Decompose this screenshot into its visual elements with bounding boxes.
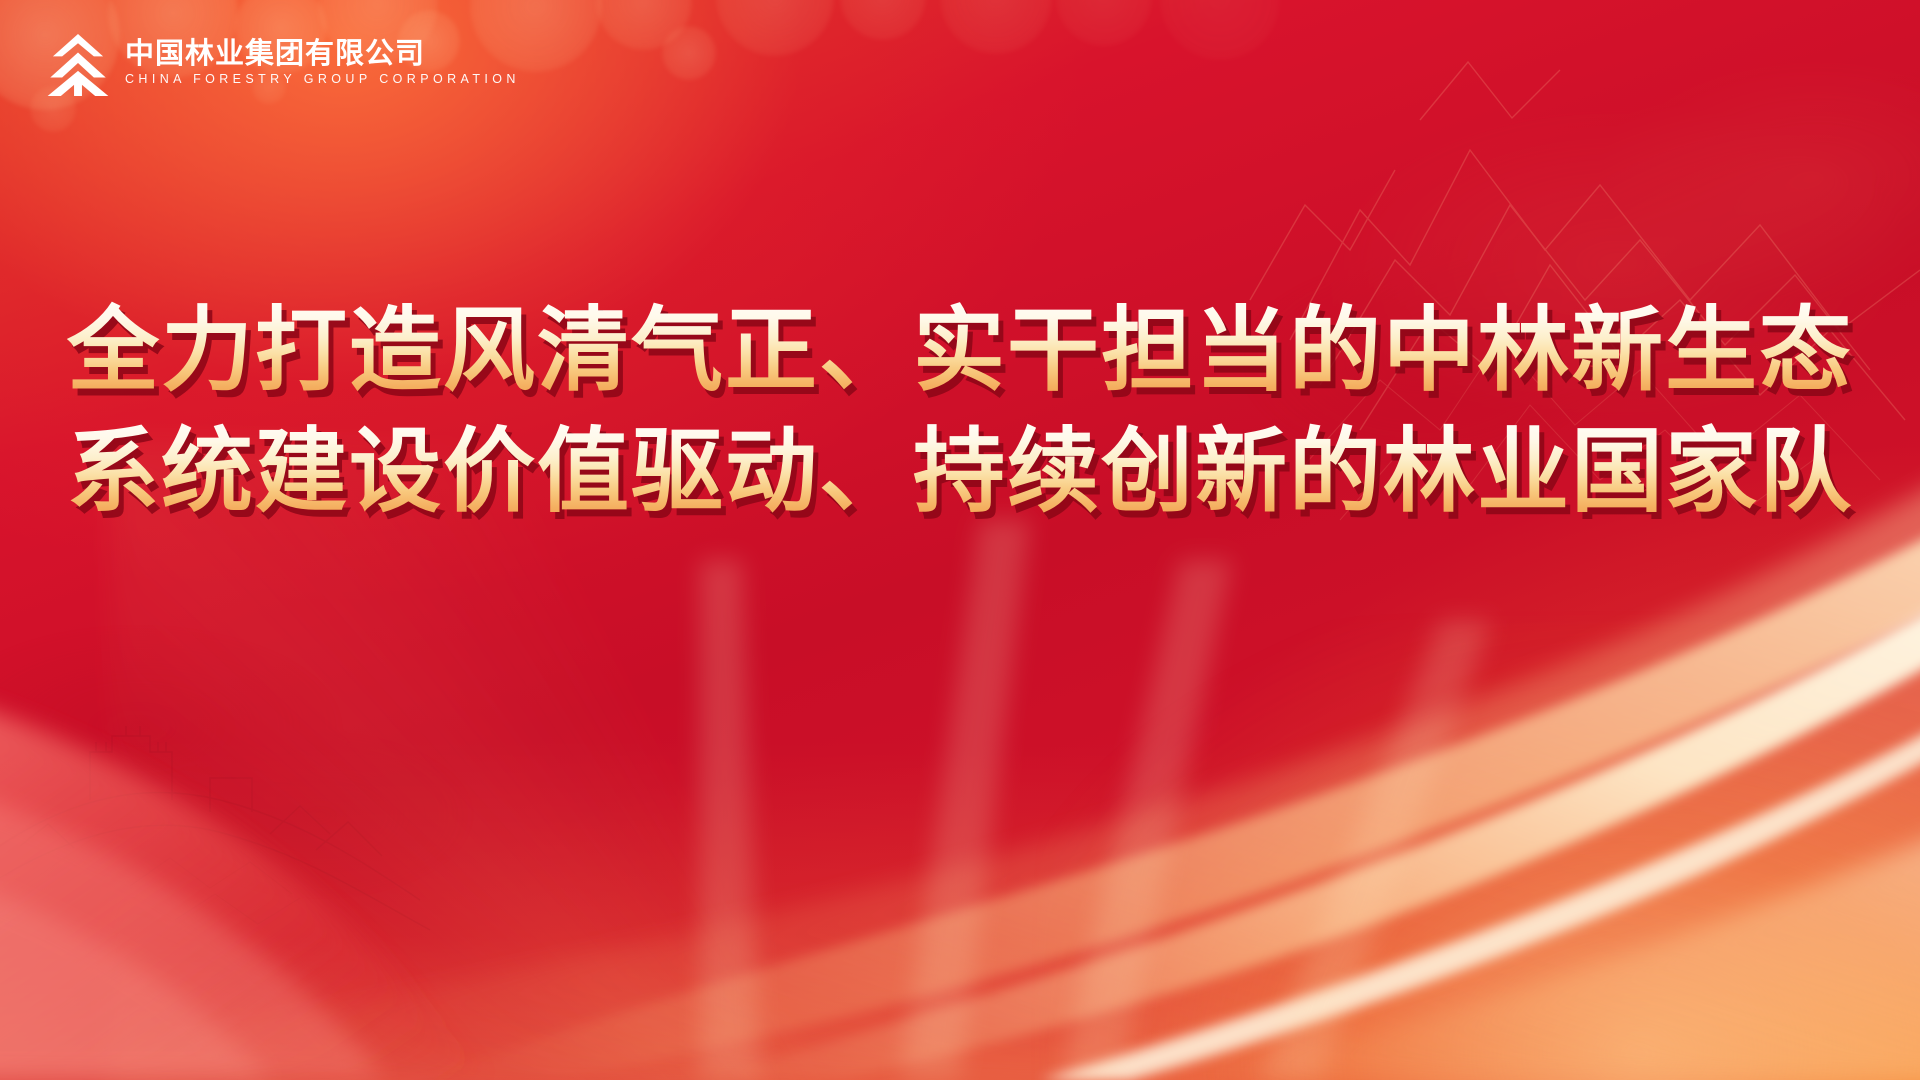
brand-logo-text: 中国林业集团有限公司 CHINA FORESTRY GROUP CORPORAT… [125, 40, 520, 86]
bokeh-circle [940, 0, 1052, 54]
slogan-block: 全力打造风清气正、实干担当的中林新生态 系统建设价值驱动、持续创新的林业国家队 [0, 300, 1920, 524]
company-name-cn: 中国林业集团有限公司 [125, 40, 520, 69]
bokeh-circle [662, 26, 716, 80]
bokeh-circle [1160, 0, 1280, 60]
great-wall-lineart-left [0, 0, 1920, 1080]
gold-ribbon-swoosh [0, 0, 1920, 1080]
company-name-en: CHINA FORESTRY GROUP CORPORATION [125, 73, 520, 86]
bottom-light-wash [0, 740, 1920, 1080]
brand-logo: 中国林业集团有限公司 CHINA FORESTRY GROUP CORPORAT… [45, 30, 520, 96]
slogan-line-1: 全力打造风清气正、实干担当的中林新生态 [67, 300, 1853, 403]
light-rays [110, 440, 1810, 1080]
bokeh-circle [716, 0, 834, 56]
bottom-right-glow [1040, 620, 1920, 1080]
poster-banner: 中国林业集团有限公司 CHINA FORESTRY GROUP CORPORAT… [0, 0, 1920, 1080]
slogan-line-2: 系统建设价值驱动、持续创新的林业国家队 [67, 421, 1853, 524]
mountain-lineart-right [0, 0, 1920, 1080]
china-forestry-chevron-tree-icon [45, 30, 111, 96]
bokeh-circle [840, 0, 926, 40]
mountain-landscape-texture-left [0, 560, 700, 1000]
background-gradient [0, 0, 1920, 1080]
bokeh-circle [1056, 0, 1152, 46]
